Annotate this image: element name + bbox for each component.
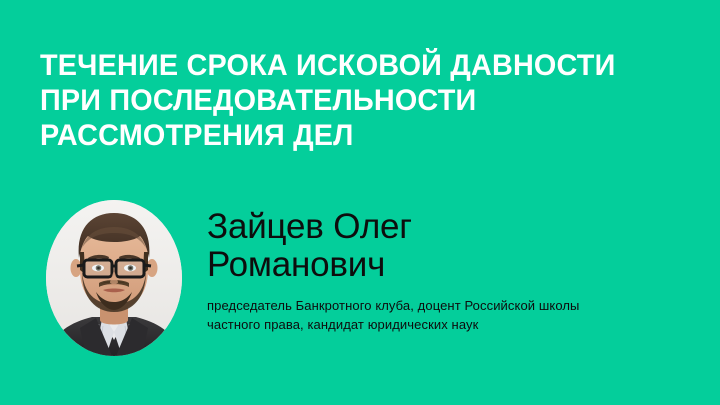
speaker-name-line-2: Романович [207,246,677,284]
speaker-block: Зайцев Олег Романович председатель Банкр… [46,200,686,360]
title-line-1: ТЕЧЕНИЕ СРОКА ИСКОВОЙ ДАВНОСТИ [40,48,664,83]
speaker-text: Зайцев Олег Романович председатель Банкр… [207,208,677,334]
speaker-name: Зайцев Олег Романович [207,208,677,284]
avatar [46,200,182,356]
speaker-role: председатель Банкротного клуба, доцент Р… [207,296,677,334]
title-slide: ТЕЧЕНИЕ СРОКА ИСКОВОЙ ДАВНОСТИ ПРИ ПОСЛЕ… [0,0,720,405]
speaker-name-line-1: Зайцев Олег [207,208,677,246]
title-line-3: РАССМОТРЕНИЯ ДЕЛ [40,118,664,153]
speaker-role-line-1: председатель Банкротного клуба, доцент Р… [207,296,677,315]
portrait-illustration [46,200,182,356]
page-title: ТЕЧЕНИЕ СРОКА ИСКОВОЙ ДАВНОСТИ ПРИ ПОСЛЕ… [40,48,690,153]
speaker-role-line-2: частного права, кандидат юридических нау… [207,315,677,334]
title-line-2: ПРИ ПОСЛЕДОВАТЕЛЬНОСТИ [40,83,664,118]
